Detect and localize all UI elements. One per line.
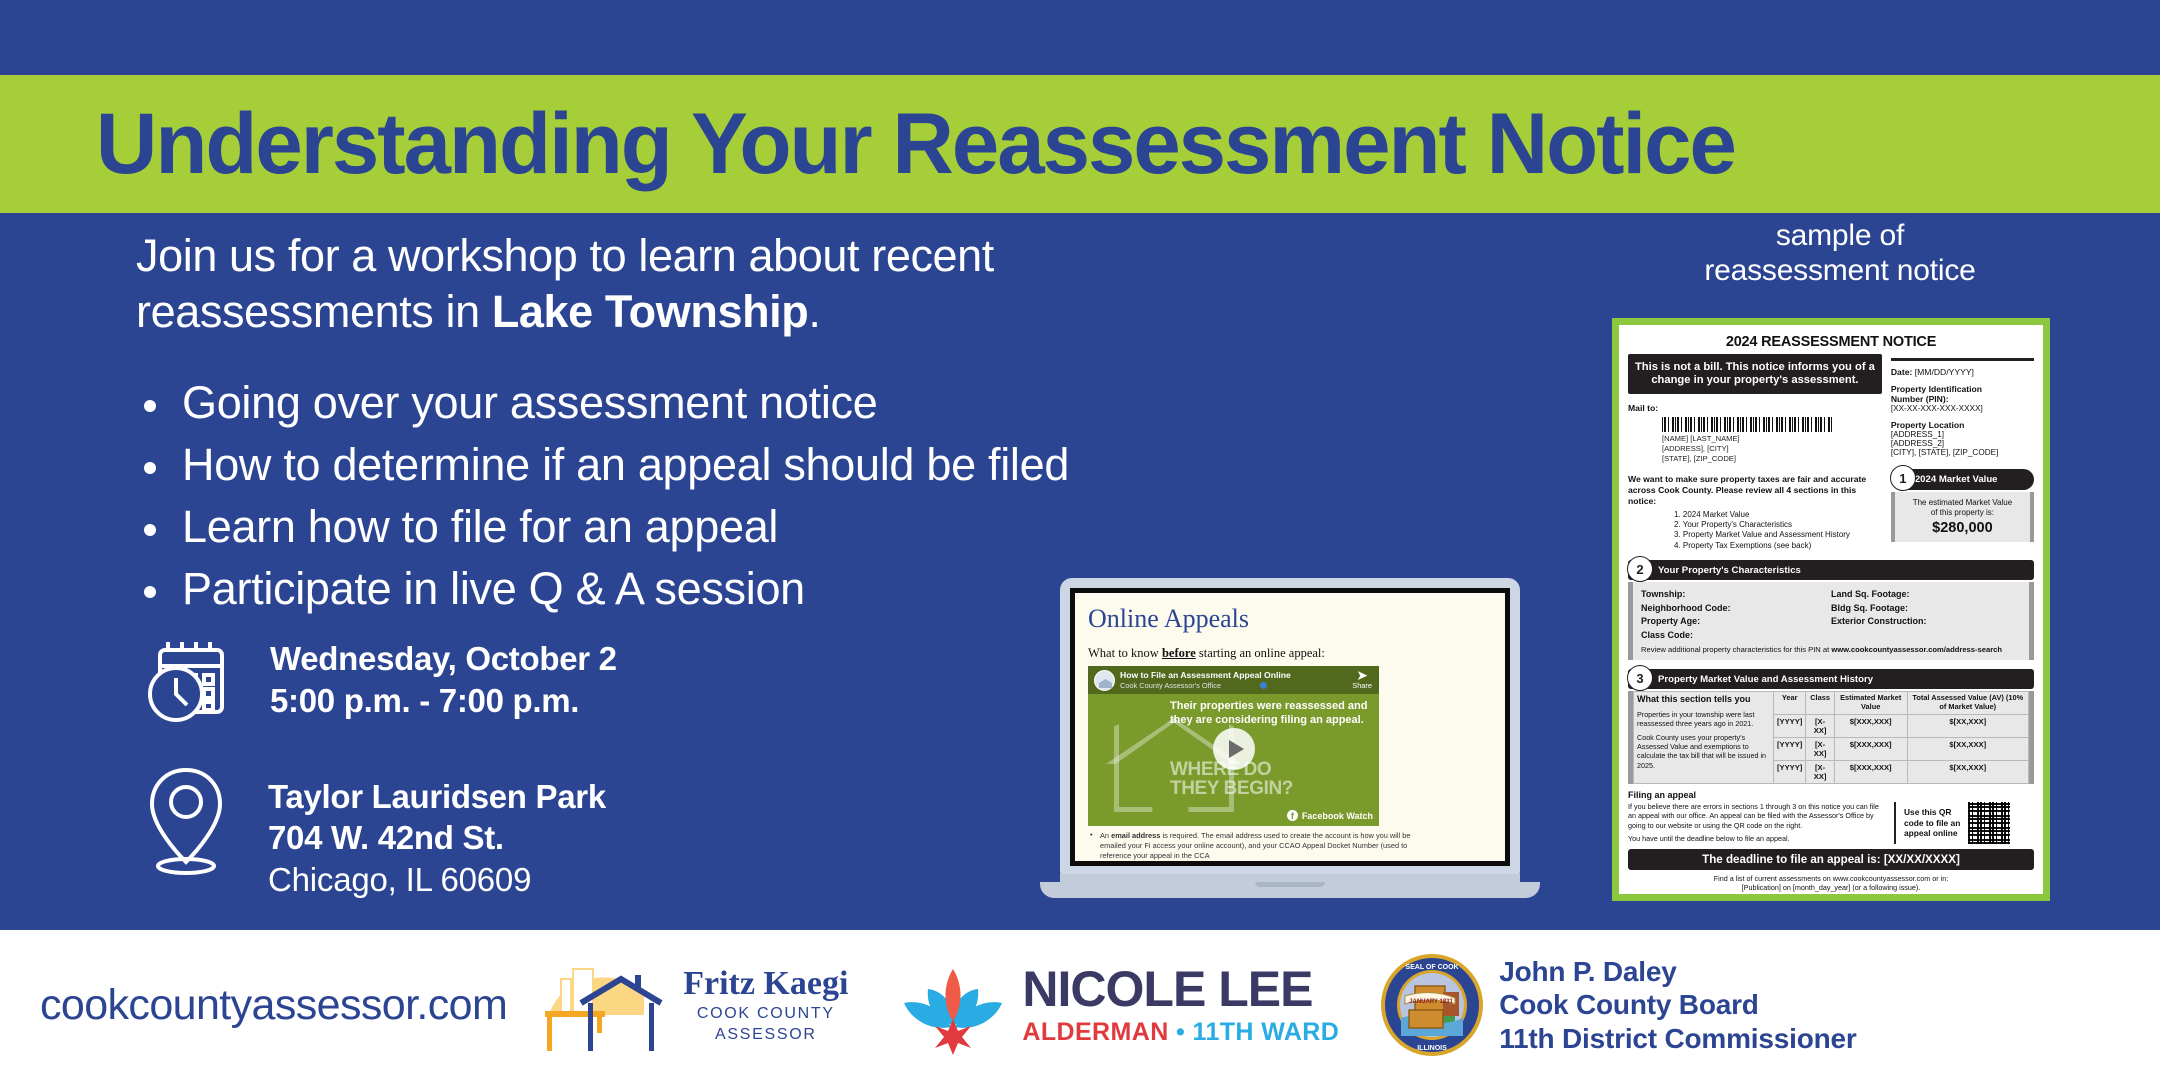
characteristics-note-text: Review additional property characteristi…	[1641, 645, 1831, 654]
notice-section-item: 1. 2024 Market Value	[1674, 510, 1882, 520]
daley-text-block: John P. Daley Cook County Board 11th Dis…	[1499, 955, 1856, 1056]
lee-name: NICOLE LEE	[1022, 964, 1339, 1014]
section-1-heading: 2024 Market Value	[1915, 474, 1998, 485]
notice-date-label: Date:	[1891, 367, 1913, 377]
barcode-icon	[1662, 417, 1832, 432]
laptop-base	[1040, 882, 1540, 898]
chicago-star-lotus-icon	[894, 953, 1012, 1057]
property-location-line: [ADDRESS_2]	[1891, 439, 2034, 448]
video-title: How to File an Assessment Appeal Online	[1120, 670, 1291, 680]
property-location-line: [CITY], [STATE], [ZIP_CODE]	[1891, 448, 2034, 457]
assessment-history-table: What this section tells you Properties i…	[1633, 691, 2029, 784]
laptop-mockup: Online Appeals What to know before start…	[1040, 578, 1540, 898]
intro-line-1: Join us for a workshop to learn about re…	[136, 230, 994, 281]
section-number-badge: 2	[1627, 556, 1653, 582]
kaegi-name: Fritz Kaegi	[683, 965, 848, 1003]
lee-ward: 11TH WARD	[1193, 1018, 1340, 1046]
daley-logo: JANUARY 1831 SEAL OF COOK ILLINOIS John …	[1379, 952, 1856, 1058]
lee-separator: •	[1176, 1018, 1185, 1046]
section-number-badge: 1	[1890, 465, 1916, 491]
notice-intro-paragraph: We want to make sure property taxes are …	[1628, 474, 1882, 506]
cell-market-value: $[XXX,XXX]	[1834, 761, 1907, 784]
cell-year: [YYYY]	[1774, 738, 1806, 761]
notice-footnote-line-2: [Publication] on [month_day_year] (or a …	[1628, 883, 2034, 892]
daley-name: John P. Daley	[1499, 955, 1856, 989]
kaegi-text-block: Fritz Kaegi COOK COUNTY ASSESSOR	[683, 965, 848, 1045]
pin-label-2: Number (PIN):	[1891, 394, 2034, 404]
embedded-video-player[interactable]: How to File an Assessment Appeal Online …	[1088, 666, 1379, 826]
section-number-badge: 3	[1627, 665, 1653, 691]
column-header: Estimated Market Value	[1834, 692, 1907, 715]
facebook-watch-badge: fFacebook Watch	[1287, 810, 1373, 821]
subtitle-part-1: What to know	[1088, 646, 1162, 660]
characteristic-field: Exterior Construction:	[1831, 615, 2021, 629]
sample-caption-line-2: reassessment notice	[1600, 253, 2080, 288]
venue-name: Taylor Lauridsen Park	[268, 776, 606, 817]
share-button[interactable]: ➤Share	[1352, 670, 1372, 690]
notice-section-3-header: 3 Property Market Value and Assessment H…	[1628, 669, 2034, 689]
column-header: Class	[1806, 692, 1835, 715]
filing-paragraph-1: If you believe there are errors in secti…	[1628, 802, 1888, 830]
filing-title: Filing an appeal	[1628, 790, 2034, 800]
daley-district: 11th District Commissioner	[1499, 1022, 1856, 1056]
notice-section-item: 2. Your Property's Characteristics	[1674, 520, 1882, 530]
list-item: An email address is required. The email …	[1088, 831, 1418, 861]
laptop-screen: Online Appeals What to know before start…	[1070, 588, 1510, 866]
list-item: Learn how to file for an appeal	[136, 496, 1286, 558]
channel-avatar-icon	[1094, 670, 1115, 691]
property-location-label: Property Location	[1891, 420, 2034, 430]
online-appeals-title: Online Appeals	[1088, 604, 1492, 634]
calendar-clock-icon	[140, 628, 244, 737]
characteristic-field: Property Age:	[1641, 615, 1831, 629]
appeal-deadline-banner: The deadline to file an appeal is: [XX/X…	[1628, 849, 2034, 870]
event-time: 5:00 p.m. - 7:00 p.m.	[270, 680, 617, 722]
what-this-section-cell: What this section tells you Properties i…	[1634, 692, 1774, 784]
verified-badge-icon	[1260, 682, 1267, 689]
cell-class: [X-XX]	[1806, 761, 1835, 784]
title-band: Understanding Your Reassessment Notice	[0, 75, 2160, 213]
pin-label-1: Property Identification	[1891, 384, 2034, 394]
subtitle-emphasis: before	[1162, 646, 1196, 660]
cell-year: [YYYY]	[1774, 761, 1806, 784]
bullet-text-a: An	[1100, 831, 1111, 840]
cell-market-value: $[XXX,XXX]	[1834, 738, 1907, 761]
characteristic-field: Township:	[1641, 588, 1831, 602]
lee-role: ALDERMAN	[1022, 1018, 1168, 1046]
event-datetime: Wednesday, October 2 5:00 p.m. - 7:00 p.…	[140, 628, 617, 737]
divider	[1891, 358, 2034, 361]
notice-section-3-body: What this section tells you Properties i…	[1628, 691, 2034, 784]
section-2-heading: Your Property's Characteristics	[1658, 565, 1801, 576]
property-location-line: [ADDRESS_1]	[1891, 430, 2034, 439]
svg-text:ILLINOIS: ILLINOIS	[1417, 1045, 1447, 1052]
qr-code-icon	[1968, 802, 2010, 844]
mail-to-line: [STATE], [ZIP_CODE]	[1662, 454, 1882, 464]
notice-title: 2024 REASSESSMENT NOTICE	[1628, 334, 2034, 350]
market-value-text-1: The estimated Market Value	[1899, 498, 2026, 508]
share-label: Share	[1352, 681, 1372, 690]
share-arrow-icon: ➤	[1352, 670, 1372, 681]
intro-line-2-suffix: .	[808, 286, 820, 337]
cell-class: [X-XX]	[1806, 715, 1835, 738]
kaegi-office-line-1: COOK COUNTY	[683, 1004, 848, 1024]
footer-bar: cookcountyassessor.com Fritz Kaegi	[0, 930, 2160, 1080]
video-caption: Their properties were reassessed and the…	[1170, 700, 1370, 728]
notice-section-2-header: 2 Your Property's Characteristics	[1628, 560, 2034, 580]
characteristic-field: Class Code:	[1641, 629, 1831, 643]
cell-assessed-value: $[XX,XXX]	[1907, 761, 2028, 784]
sample-caption: sample of reassessment notice	[1600, 218, 2080, 289]
characteristics-note-url: www.cookcountyassessor.com/address-searc…	[1831, 645, 2002, 654]
nicole-lee-logo: NICOLE LEE ALDERMAN • 11TH WARD	[894, 953, 1339, 1057]
facebook-watch-label: Facebook Watch	[1302, 811, 1373, 821]
lee-role-line: ALDERMAN • 11TH WARD	[1022, 1018, 1339, 1047]
event-location-text: Taylor Lauridsen Park 704 W. 42nd St. Ch…	[268, 776, 606, 900]
market-value-text-2: of this property is:	[1899, 508, 2026, 518]
characteristic-field: Bldg Sq. Footage:	[1831, 602, 2021, 616]
event-location: Taylor Lauridsen Park 704 W. 42nd St. Ch…	[140, 762, 606, 900]
house-skyline-icon	[539, 953, 671, 1057]
table-header-row: What this section tells you Properties i…	[1634, 692, 2029, 715]
section-3-heading: Property Market Value and Assessment His…	[1658, 674, 1873, 685]
notice-market-value-box: The estimated Market Value of this prope…	[1891, 492, 2034, 542]
mail-to-line: [ADDRESS], [CITY]	[1662, 444, 1882, 454]
what-paragraph-2: Cook County uses your property's Assesse…	[1637, 733, 1770, 770]
venue-street: 704 W. 42nd St.	[268, 817, 606, 858]
kaegi-logo: Fritz Kaegi COOK COUNTY ASSESSOR	[539, 953, 848, 1057]
laptop-lid: Online Appeals What to know before start…	[1060, 578, 1520, 876]
bullet-text-b: email address	[1111, 831, 1160, 840]
page-title: Understanding Your Reassessment Notice	[9, 95, 1735, 194]
website-url[interactable]: cookcountyassessor.com	[40, 981, 507, 1030]
notice-section-1-header: 1 2024 Market Value	[1891, 469, 2034, 490]
event-datetime-text: Wednesday, October 2 5:00 p.m. - 7:00 p.…	[270, 638, 617, 721]
daley-board: Cook County Board	[1499, 988, 1856, 1022]
sample-caption-line-1: sample of	[1600, 218, 2080, 253]
township-name: Lake Township	[492, 286, 809, 337]
notice-date-value: [MM/DD/YYYY]	[1915, 367, 1974, 377]
cell-year: [YYYY]	[1774, 715, 1806, 738]
characteristic-field: Neighborhood Code:	[1641, 602, 1831, 616]
cell-class: [X-XX]	[1806, 738, 1835, 761]
list-item: How to determine if an appeal should be …	[136, 434, 1286, 496]
event-flyer: Understanding Your Reassessment Notice J…	[0, 0, 2160, 1080]
intro-line-2-prefix: reassessments in	[136, 286, 492, 337]
notice-section-2-body: Township: Neighborhood Code: Property Ag…	[1628, 582, 2034, 660]
venue-city: Chicago, IL 60609	[268, 859, 606, 900]
event-date: Wednesday, October 2	[270, 638, 617, 680]
mail-to-label: Mail to:	[1628, 403, 1882, 413]
cell-assessed-value: $[XX,XXX]	[1907, 738, 2028, 761]
svg-text:JANUARY 1831: JANUARY 1831	[1409, 999, 1453, 1005]
video-headline-line-2: THEY BEGIN?	[1170, 779, 1293, 798]
intro-paragraph: Join us for a workshop to learn about re…	[136, 228, 1206, 340]
online-appeals-subtitle: What to know before starting an online a…	[1088, 646, 1492, 661]
pin-value: [XX-XX-XXX-XXX-XXXX]	[1891, 404, 2034, 413]
market-value-amount: $280,000	[1899, 520, 2026, 536]
notice-page: 2024 REASSESSMENT NOTICE This is not a b…	[1619, 325, 2043, 894]
notice-section-item: 4. Property Tax Exemptions (see back)	[1674, 541, 1882, 551]
notice-section-item: 3. Property Market Value and Assessment …	[1674, 530, 1882, 540]
column-header: Total Assessed Value (AV) (10% of Market…	[1907, 692, 2028, 715]
cell-market-value: $[XXX,XXX]	[1834, 715, 1907, 738]
sample-reassessment-notice: 2024 REASSESSMENT NOTICE This is not a b…	[1612, 318, 2050, 901]
cell-assessed-value: $[XX,XXX]	[1907, 715, 2028, 738]
laptop-hinge	[1060, 874, 1520, 882]
notice-alert-box: This is not a bill. This notice informs …	[1628, 354, 1882, 394]
characteristic-field: Land Sq. Footage:	[1831, 588, 2021, 602]
kaegi-office-line-2: ASSESSOR	[683, 1025, 848, 1045]
notice-footnote-line-1: Find a list of current assessments on ww…	[1628, 874, 2034, 883]
facebook-icon: f	[1287, 810, 1298, 821]
mail-to-line: [NAME] [LAST_NAME]	[1662, 434, 1882, 444]
play-button-icon[interactable]	[1213, 728, 1255, 770]
lee-text-block: NICOLE LEE ALDERMAN • 11TH WARD	[1022, 964, 1339, 1047]
characteristics-note: Review additional property characteristi…	[1641, 645, 2021, 654]
column-header: Year	[1774, 692, 1806, 715]
cook-county-seal-icon: JANUARY 1831 SEAL OF COOK ILLINOIS	[1379, 952, 1485, 1058]
what-paragraph-1: Properties in your township were last re…	[1637, 710, 1770, 729]
video-channel: Cook County Assessor's Office	[1120, 681, 1221, 690]
map-pin-icon	[140, 762, 232, 885]
subtitle-part-2: starting an online appeal:	[1196, 646, 1325, 660]
filing-paragraph-2: You have until the deadline below to fil…	[1628, 834, 1888, 843]
svg-text:SEAL OF COOK: SEAL OF COOK	[1406, 964, 1459, 971]
qr-label: Use this QR code to file an appeal onlin…	[1904, 807, 1962, 839]
online-appeals-page: Online Appeals What to know before start…	[1075, 593, 1505, 861]
what-title: What this section tells you	[1637, 694, 1751, 704]
list-item: Going over your assessment notice	[136, 372, 1286, 434]
